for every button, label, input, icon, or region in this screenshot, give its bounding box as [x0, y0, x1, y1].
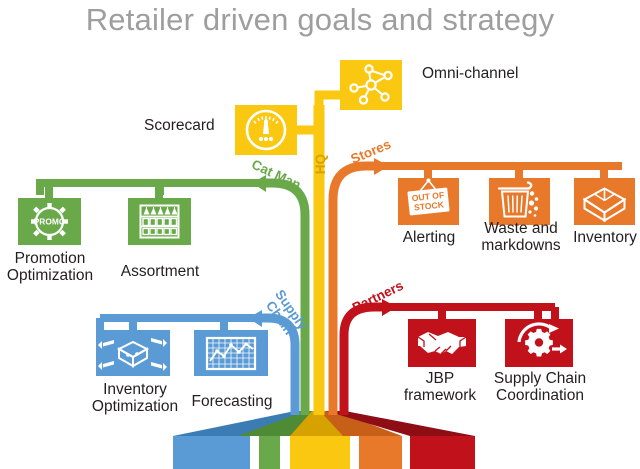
- page-title: Retailer driven goals and strategy: [0, 2, 640, 38]
- promo-badge-icon: PROMO: [31, 203, 68, 240]
- node-box-inventory-optimization[interactable]: [96, 330, 170, 376]
- fan-band-yellow: [290, 436, 350, 469]
- branch-label-hq: HQ: [314, 149, 328, 179]
- trunk-fan-base: [173, 411, 475, 469]
- diagram-svg: PROMO: [0, 0, 640, 469]
- fan-band-orange: [359, 436, 402, 469]
- fan-band-blue: [173, 436, 250, 469]
- fan-band-red: [410, 436, 475, 469]
- node-box-waste-and-markdowns[interactable]: [489, 178, 550, 225]
- stem-red: [344, 307, 386, 415]
- promo-badge-text: PROMO: [34, 217, 66, 227]
- diagram-canvas: PROMO: [0, 0, 640, 469]
